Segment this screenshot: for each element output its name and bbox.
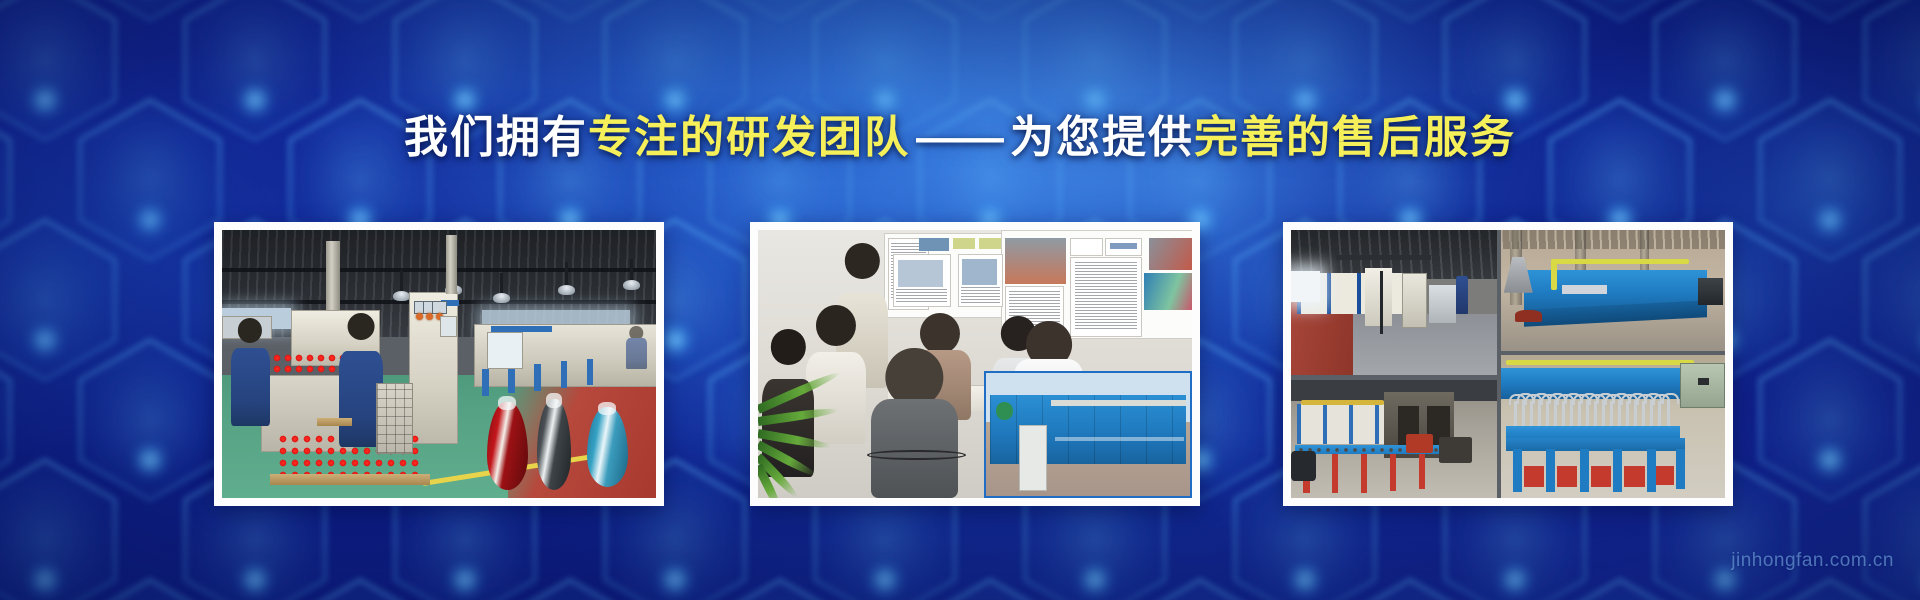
board-photo-line xyxy=(1144,273,1192,311)
hanger-row xyxy=(1510,398,1671,430)
drive-motor xyxy=(1291,451,1316,482)
oven-end-cabinet xyxy=(1365,268,1392,326)
cabinet-knob xyxy=(426,313,433,320)
oven-door-window xyxy=(487,332,524,369)
hanging-lamp-icon xyxy=(500,273,503,294)
poster-diagram xyxy=(893,254,951,307)
conveyor-leg xyxy=(1361,454,1367,493)
inset-equipment-photo xyxy=(984,371,1192,498)
vase-blue xyxy=(587,407,628,487)
headline-segment-2: 专注的研发团队 xyxy=(588,113,910,162)
collage-cell-blue-tunnel xyxy=(1501,230,1725,351)
site-watermark: jinhongfan.com.cn xyxy=(1731,550,1894,572)
side-cabinet xyxy=(1402,273,1427,327)
collage-cell-tunnel-oven-hall xyxy=(1291,230,1497,375)
hanger-rail xyxy=(1506,426,1680,437)
worker-in-hall xyxy=(1456,276,1468,314)
conveyor-deck xyxy=(1506,438,1685,451)
hanging-lamp-icon xyxy=(400,270,403,291)
photo-frame-2 xyxy=(758,230,1192,498)
hanging-lamp-icon xyxy=(630,259,633,280)
conveyor-leg xyxy=(1390,454,1396,491)
cabinet-knob xyxy=(416,313,423,320)
cabinet-gauge xyxy=(432,301,447,314)
photo-panel-equipment-collage[interactable] xyxy=(1283,222,1733,506)
control-end-unit xyxy=(1698,278,1723,305)
frame-leg xyxy=(1546,449,1555,492)
photo-frame-3 xyxy=(1291,230,1725,498)
poster-thumbnail xyxy=(953,238,975,249)
promo-banner: 我们拥有专注的研发团队——为您提供完善的售后服务 xyxy=(0,0,1920,600)
red-crossbrace xyxy=(1557,466,1577,486)
wooden-stool xyxy=(317,418,352,426)
valve-manifold xyxy=(1562,285,1607,293)
conveyor-leg xyxy=(1332,454,1338,493)
pole xyxy=(1380,271,1383,335)
plastic-crate xyxy=(376,383,413,455)
certificate xyxy=(1070,238,1102,256)
scene-production-line xyxy=(222,230,656,498)
red-machine-part xyxy=(1406,434,1433,453)
collage-cell-hanger-line xyxy=(1501,355,1725,498)
hanging-lamp-icon xyxy=(565,262,568,286)
board-photo xyxy=(1149,238,1192,270)
headline-segment-dash: —— xyxy=(910,113,1010,162)
conveyor-oven xyxy=(1297,404,1388,444)
headline-segment-1: 我们拥有 xyxy=(404,113,588,162)
headline-segment-4: 完善的售后服务 xyxy=(1194,113,1516,162)
banner-headline: 我们拥有专注的研发团队——为您提供完善的售后服务 xyxy=(0,113,1920,162)
dark-machine-part xyxy=(1439,437,1472,463)
exhaust-stack xyxy=(326,241,340,316)
conveyor-leg xyxy=(1419,454,1425,488)
poster-thumbnail xyxy=(919,238,949,251)
frame-leg xyxy=(1676,449,1685,489)
inset-fan xyxy=(996,402,1012,419)
red-crossbrace xyxy=(1656,466,1674,485)
red-crossbrace xyxy=(1591,466,1611,486)
photo-panel-team-meeting[interactable] xyxy=(750,222,1200,506)
potted-palm xyxy=(758,402,871,498)
worker-far xyxy=(626,326,648,369)
board-photo-machine xyxy=(1005,238,1066,284)
collage-cell-chain-conveyor xyxy=(1291,380,1497,498)
green-control-unit xyxy=(1680,363,1724,408)
person-seated-back xyxy=(871,348,958,498)
certificate xyxy=(1105,238,1142,256)
photo-panel-production-line[interactable] xyxy=(214,222,664,506)
inset-control-box xyxy=(1019,425,1048,491)
yellow-gas-pipe xyxy=(1551,259,1690,264)
overhead-duct xyxy=(1336,255,1431,261)
factory-floor-red-zone xyxy=(508,385,656,498)
poster-diagram xyxy=(958,254,1003,307)
exhaust-stack xyxy=(446,235,457,294)
cabinet-display xyxy=(440,316,457,337)
photo-frame-1 xyxy=(222,230,656,498)
vase-red xyxy=(487,402,528,490)
hall-window-light xyxy=(1291,271,1320,303)
worker-left xyxy=(231,318,270,425)
yellow-gas-riser xyxy=(1551,259,1558,290)
frame-leg xyxy=(1647,449,1656,492)
roof-structure xyxy=(1501,230,1725,249)
overhead-yellow-pipe xyxy=(1506,360,1694,364)
headline-segment-3: 为您提供 xyxy=(1010,113,1194,162)
photo-panel-row xyxy=(0,222,1920,506)
frame-leg xyxy=(1580,449,1589,492)
frame-leg xyxy=(1613,449,1622,492)
overhead-rail xyxy=(1301,400,1383,405)
unit-panel xyxy=(1698,378,1709,385)
scene-team-meeting xyxy=(758,230,1192,498)
red-crossbrace xyxy=(1624,466,1644,486)
frame-leg xyxy=(1513,449,1522,492)
vase-grey xyxy=(537,399,572,490)
poster-thumbnail xyxy=(979,238,1001,249)
red-crossbrace xyxy=(1524,466,1544,486)
bulb-bench xyxy=(270,474,431,485)
red-fixture xyxy=(1515,310,1542,322)
equipment-box xyxy=(1429,285,1456,323)
